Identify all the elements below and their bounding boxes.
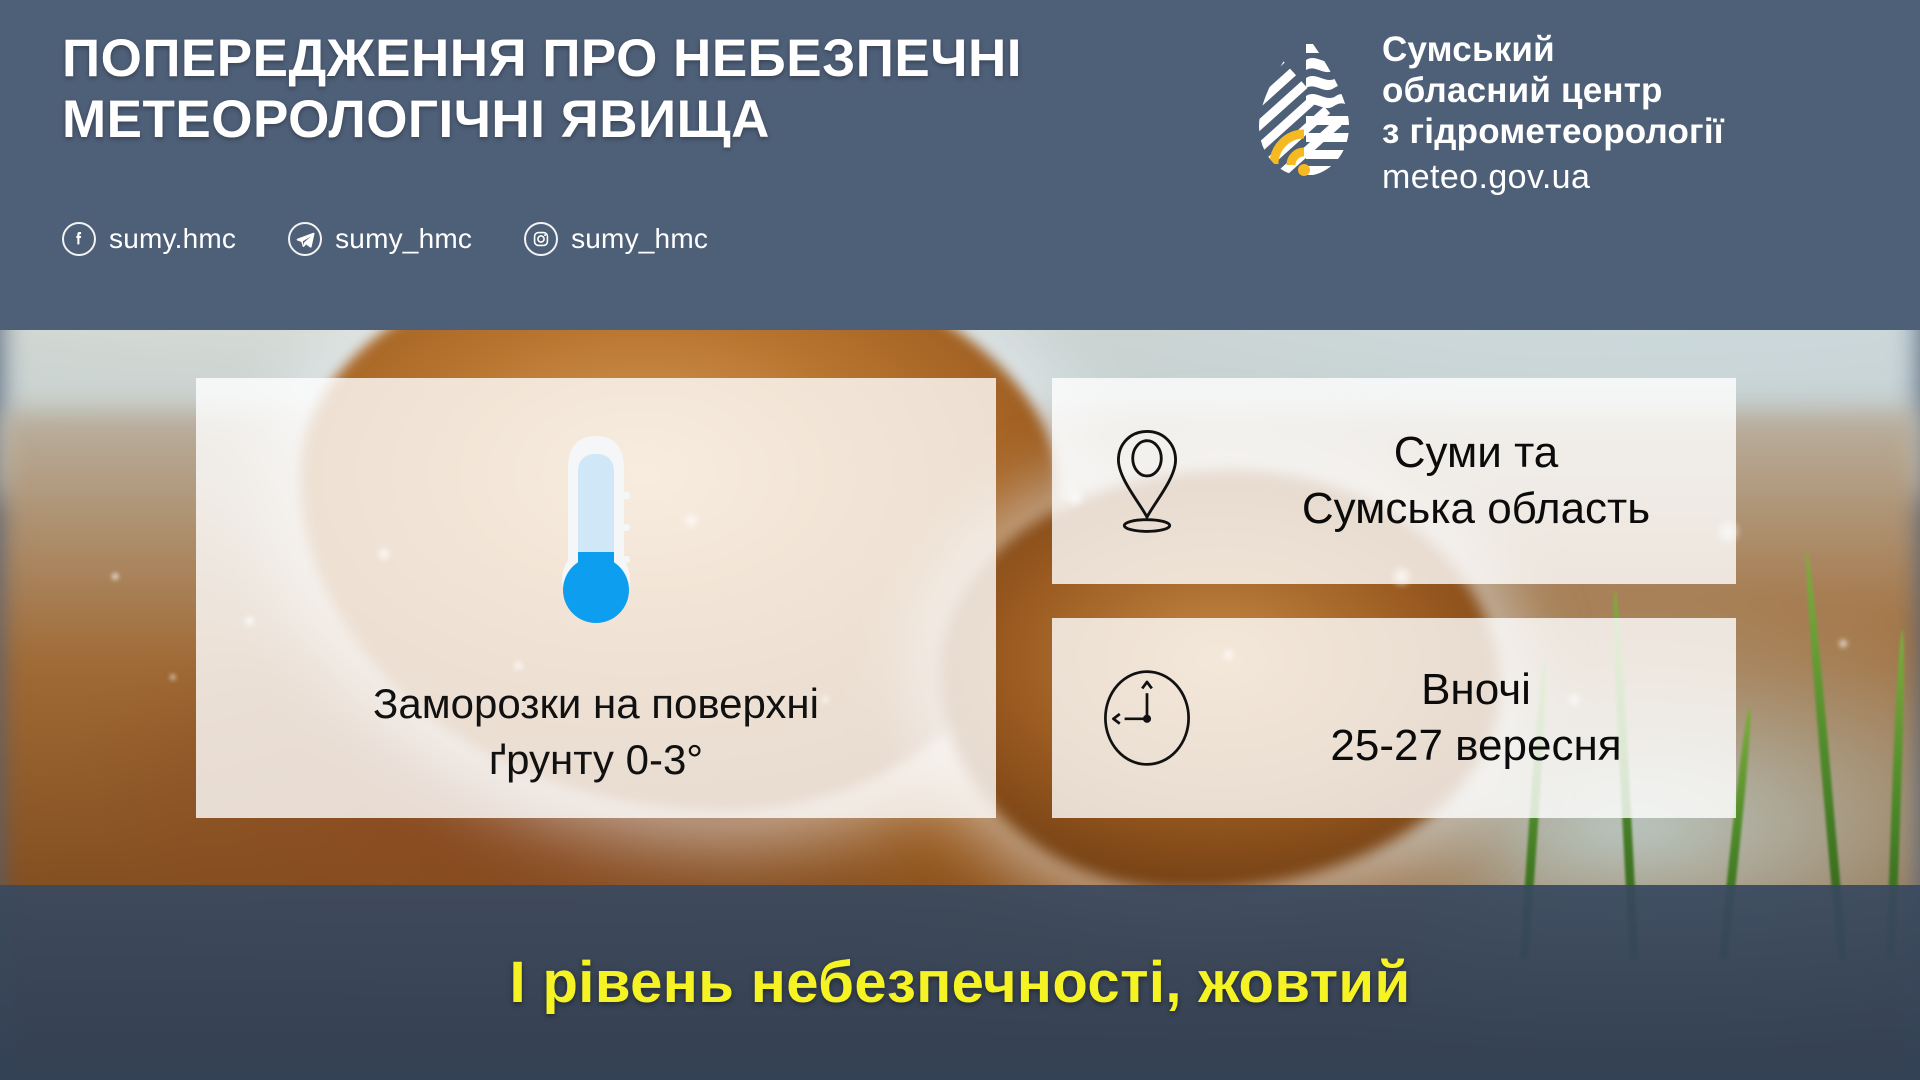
organization-logo[interactable]: Сумський обласний центр з гідрометеороло… xyxy=(1252,30,1724,198)
danger-level-banner: І рівень небезпечності, жовтий xyxy=(0,885,1920,1080)
page-title-line-1: ПОПЕРЕДЖЕННЯ ПРО НЕБЕЗПЕЧНІ xyxy=(62,28,1062,89)
header-banner: ПОПЕРЕДЖЕННЯ ПРО НЕБЕЗПЕЧНІ МЕТЕОРОЛОГІЧ… xyxy=(0,0,1920,330)
social-link-telegram[interactable]: sumy_hmc xyxy=(288,222,472,256)
telegram-icon xyxy=(288,222,322,256)
page-title-line-2: МЕТЕОРОЛОГІЧНІ ЯВИЩА xyxy=(62,89,1062,150)
social-handle-telegram: sumy_hmc xyxy=(335,223,472,255)
location-card: Суми та Сумська область xyxy=(1052,378,1736,584)
time-line-2: 25-27 вересня xyxy=(1242,718,1710,774)
phenomenon-line-1: Заморозки на поверхні xyxy=(373,676,819,732)
phenomenon-description: Заморозки на поверхні ґрунту 0-3° xyxy=(333,676,859,789)
time-card: Вночі 25-27 вересня xyxy=(1052,618,1736,818)
location-text: Суми та Сумська область xyxy=(1242,425,1736,538)
danger-level-text: І рівень небезпечності, жовтий xyxy=(509,949,1410,1016)
time-text: Вночі 25-27 вересня xyxy=(1242,662,1736,775)
weather-warning-infographic: ПОПЕРЕДЖЕННЯ ПРО НЕБЕЗПЕЧНІ МЕТЕОРОЛОГІЧ… xyxy=(0,0,1920,1080)
thermometer-icon xyxy=(538,432,654,642)
organization-name: Сумський обласний центр з гідрометеороло… xyxy=(1382,30,1724,198)
droplet-logo-icon xyxy=(1252,30,1356,180)
clock-icon xyxy=(1052,666,1242,770)
social-link-instagram[interactable]: sumy_hmc xyxy=(524,222,708,256)
phenomenon-line-2: ґрунту 0-3° xyxy=(373,732,819,788)
location-line-2: Сумська область xyxy=(1242,481,1710,537)
logo-line-2: обласний центр xyxy=(1382,71,1724,112)
social-handle-instagram: sumy_hmc xyxy=(571,223,708,255)
social-links: sumy.hmc sumy_hmc sumy xyxy=(62,222,708,256)
page-title: ПОПЕРЕДЖЕННЯ ПРО НЕБЕЗПЕЧНІ МЕТЕОРОЛОГІЧ… xyxy=(62,28,1062,151)
location-line-1: Суми та xyxy=(1242,425,1710,481)
instagram-icon xyxy=(524,222,558,256)
phenomenon-card: Заморозки на поверхні ґрунту 0-3° xyxy=(196,378,996,818)
logo-line-1: Сумський xyxy=(1382,30,1724,71)
facebook-icon xyxy=(62,222,96,256)
organization-website[interactable]: meteo.gov.ua xyxy=(1382,158,1724,198)
social-handle-facebook: sumy.hmc xyxy=(109,223,236,255)
map-pin-icon xyxy=(1052,426,1242,536)
social-link-facebook[interactable]: sumy.hmc xyxy=(62,222,236,256)
time-line-1: Вночі xyxy=(1242,662,1710,718)
logo-line-3: з гідрометеорології xyxy=(1382,112,1724,153)
